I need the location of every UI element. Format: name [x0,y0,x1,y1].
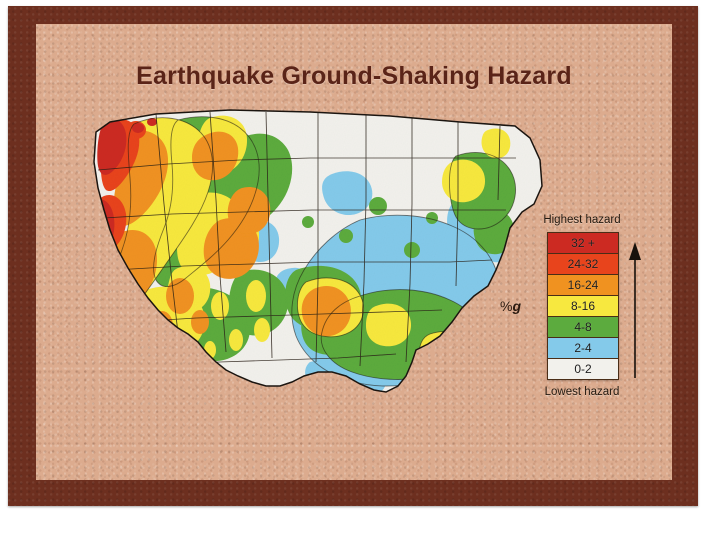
page-title: Earthquake Ground-Shaking Hazard [36,62,672,91]
hazard-contours [60,100,560,480]
hazard-map-svg [60,100,560,480]
poster-frame: Earthquake Ground-Shaking Hazard [8,6,698,506]
poster-background: Earthquake Ground-Shaking Hazard [36,24,672,480]
hazard-increase-arrow-icon [627,240,643,380]
legend-swatch-32-plus[interactable]: 32 + [548,233,618,254]
legend-units-percent: % [500,298,512,314]
legend-swatch-2-4[interactable]: 2-4 [548,338,618,359]
legend-units-label: %g [500,298,521,314]
legend-units-g: g [512,298,521,314]
legend-swatch-4-8[interactable]: 4-8 [548,317,618,338]
legend-swatch-8-16[interactable]: 8-16 [548,296,618,317]
legend-top-caption: Highest hazard [530,214,634,226]
legend-swatches: 32 + 24-32 16-24 8-16 4-8 2-4 0-2 [547,232,619,380]
legend-swatch-24-32[interactable]: 24-32 [548,254,618,275]
legend-bottom-caption: Lowest hazard [530,386,634,398]
legend-swatch-0-2[interactable]: 0-2 [548,359,618,379]
legend-swatch-row: %g 32 + 24-32 16-24 8-16 4-8 2-4 0-2 [530,232,650,380]
legend: Highest hazard %g 32 + 24-32 16-24 8-16 … [530,214,650,398]
hazard-map [60,100,560,480]
legend-swatch-16-24[interactable]: 16-24 [548,275,618,296]
